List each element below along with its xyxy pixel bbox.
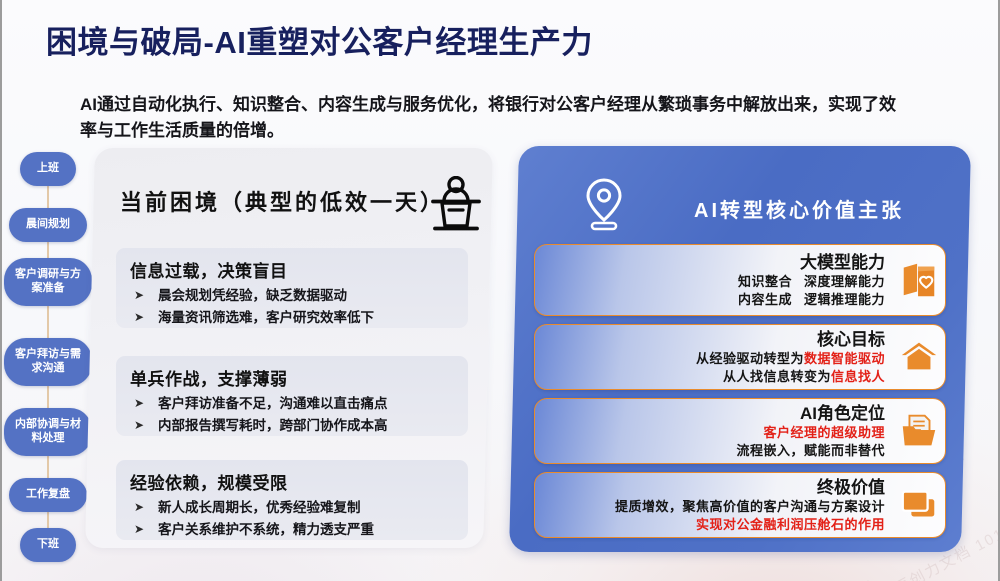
page-subtitle: AI通过自动化执行、知识整合、内容生成与服务优化，将银行对公客户经理从繁琐事务中… <box>80 92 910 145</box>
page-title: 困境与破局-AI重塑对公客户经理生产力 <box>46 17 593 62</box>
pain-block-1: 单兵作战，支撑薄弱 ➤客户拜访准备不足，沟通难以直击痛点 ➤内部报告撰写耗时，跨… <box>116 356 468 436</box>
value-card-2[interactable]: AI角色定位 客户经理的超级助理 流程嵌入，赋能而非替代 <box>534 398 946 464</box>
timeline-item-label: 下班 <box>37 538 59 552</box>
pain-bullet-text: 新人成长周期长，优秀经验难复制 <box>158 498 361 518</box>
value-card-title: 核心目标 <box>545 329 885 350</box>
value-card-line: 客户经理的超级助理 <box>545 424 885 442</box>
pain-bullet-text: 客户关系维护不系统，精力透支严重 <box>158 520 374 540</box>
pain-block-title: 经验依赖，规模受限 <box>130 469 456 494</box>
value-line-plain: 流程嵌入，赋能而非替代 <box>736 443 885 458</box>
value-card-line: 实现对公金融利润压舱石的作用 <box>545 516 885 534</box>
book-heart-icon <box>893 259 945 301</box>
pain-bullet-text: 客户拜访准备不足，沟通难以直击痛点 <box>158 394 388 414</box>
pain-bullet-text: 晨会规划凭经验，缺乏数据驱动 <box>158 286 347 306</box>
value-line-highlight: 信息找人 <box>831 369 885 384</box>
value-card-title: AI角色定位 <box>545 403 885 424</box>
pain-bullet-text: 内部报告撰写耗时，跨部门协作成本高 <box>158 416 388 436</box>
timeline: 上班 晨间规划 客户调研与方案准备 客户拜访与需求沟通 内部协调与材料处理 工作… <box>2 140 94 570</box>
timeline-item-5[interactable]: 工作复盘 <box>9 478 87 512</box>
pain-bullet-text: 海量资讯筛选难，客户研究效率低下 <box>158 308 374 328</box>
timeline-item-2[interactable]: 客户调研与方案准备 <box>4 258 92 306</box>
value-card-text: 终极价值 提质增效，聚焦高价值的客户沟通与方案设计 实现对公金融利润压舱石的作用 <box>535 471 893 539</box>
pain-bullet: ➤客户拜访准备不足，沟通难以直击痛点 <box>128 394 456 414</box>
value-card-line: 从经验驱动转型为数据智能驱动 <box>545 350 885 368</box>
value-card-text: AI角色定位 客户经理的超级助理 流程嵌入，赋能而非替代 <box>535 397 893 465</box>
pain-block-0: 信息过载，决策盲目 ➤晨会规划凭经验，缺乏数据驱动 ➤海量资讯筛选难，客户研究效… <box>116 248 468 328</box>
timeline-item-1[interactable]: 晨间规划 <box>9 208 87 242</box>
timeline-item-label: 上班 <box>37 162 59 176</box>
value-card-line: 内容生成 <box>738 291 792 309</box>
arrow-bullet-icon: ➤ <box>128 394 158 412</box>
value-card-col2: 深度理解能力 逻辑推理能力 <box>804 273 885 308</box>
value-card-line: 知识整合 <box>738 273 792 291</box>
folder-docs-icon <box>893 410 945 452</box>
timeline-item-4[interactable]: 内部协调与材料处理 <box>4 408 92 456</box>
timeline-item-label: 工作复盘 <box>26 488 70 502</box>
arrow-bullet-icon: ➤ <box>128 416 158 434</box>
value-line-plain: 提质增效，聚焦高价值的客户沟通与方案设计 <box>615 499 885 514</box>
value-line-highlight: 客户经理的超级助理 <box>763 425 885 440</box>
value-card-line: 逻辑推理能力 <box>804 291 885 309</box>
current-pain-points-content: 当前困境（典型的低效一天） 信息过载，决策盲目 ➤晨会规划凭经验，缺乏数据驱动 … <box>90 148 488 548</box>
value-card-1[interactable]: 核心目标 从经验驱动转型为数据智能驱动 从人找信息转变为信息找人 <box>534 324 946 390</box>
pain-bullet: ➤内部报告撰写耗时，跨部门协作成本高 <box>128 416 456 436</box>
value-card-line: 流程嵌入，赋能而非替代 <box>545 442 885 460</box>
podium-icon <box>428 176 484 234</box>
pain-block-title: 信息过载，决策盲目 <box>130 257 456 282</box>
value-card-line: 提质增效，聚焦高价值的客户沟通与方案设计 <box>545 498 885 516</box>
timeline-item-3[interactable]: 客户拜访与需求沟通 <box>4 338 92 386</box>
value-line-plain: 从人找信息转变为 <box>723 369 831 384</box>
value-card-text: 核心目标 从经验驱动转型为数据智能驱动 从人找信息转变为信息找人 <box>535 323 893 391</box>
timeline-item-label: 晨间规划 <box>26 218 70 232</box>
watermark-text: 文档仅供参考 <box>790 574 878 581</box>
value-card-line: 深度理解能力 <box>804 273 885 291</box>
arrow-bullet-icon: ➤ <box>128 308 158 326</box>
pain-bullet: ➤海量资讯筛选难，客户研究效率低下 <box>128 308 456 328</box>
left-panel-heading: 当前困境（典型的低效一天） <box>120 185 445 217</box>
value-line-highlight: 实现对公金融利润压舱石的作用 <box>696 517 885 532</box>
location-pin-icon <box>582 176 626 232</box>
home-icon <box>893 336 945 378</box>
timeline-item-label: 内部协调与材料处理 <box>10 418 86 446</box>
timeline-item-6[interactable]: 下班 <box>20 528 76 562</box>
value-line-plain: 从经验驱动转型为 <box>696 351 804 366</box>
value-card-columns: 知识整合 内容生成 深度理解能力 逻辑推理能力 <box>545 273 885 308</box>
arrow-bullet-icon: ➤ <box>128 520 158 538</box>
value-line-highlight: 数据智能驱动 <box>804 351 885 366</box>
timeline-item-label: 客户调研与方案准备 <box>10 268 86 296</box>
pain-bullet: ➤客户关系维护不系统，精力透支严重 <box>128 520 456 540</box>
pain-bullet: ➤新人成长周期长，优秀经验难复制 <box>128 498 456 518</box>
timeline-item-label: 客户拜访与需求沟通 <box>10 348 86 376</box>
right-panel-heading: AI转型核心价值主张 <box>694 194 904 223</box>
layers-icon <box>893 484 945 526</box>
value-card-3[interactable]: 终极价值 提质增效，聚焦高价值的客户沟通与方案设计 实现对公金融利润压舱石的作用 <box>534 472 946 538</box>
pain-block-title: 单兵作战，支撑薄弱 <box>130 365 456 390</box>
value-card-col1: 知识整合 内容生成 <box>738 273 792 308</box>
arrow-bullet-icon: ➤ <box>128 498 158 516</box>
timeline-item-0[interactable]: 上班 <box>20 152 76 186</box>
value-card-0[interactable]: 大模型能力 知识整合 内容生成 深度理解能力 逻辑推理能力 <box>534 244 946 316</box>
value-card-title: 终极价值 <box>545 477 885 498</box>
arrow-bullet-icon: ➤ <box>128 286 158 304</box>
value-card-text: 大模型能力 知识整合 内容生成 深度理解能力 逻辑推理能力 <box>535 246 893 314</box>
pain-block-2: 经验依赖，规模受限 ➤新人成长周期长，优秀经验难复制 ➤客户关系维护不系统，精力… <box>116 460 468 540</box>
slide-canvas: 原创力文档 101 www.book118.com 文档仅供参考 困境与破局-A… <box>0 0 1000 581</box>
value-card-title: 大模型能力 <box>545 252 885 273</box>
value-card-line: 从人找信息转变为信息找人 <box>545 368 885 386</box>
ai-value-content: AI转型核心价值主张 大模型能力 知识整合 内容生成 深度理解能力 逻辑推理能力 <box>514 146 966 552</box>
pain-bullet: ➤晨会规划凭经验，缺乏数据驱动 <box>128 286 456 306</box>
